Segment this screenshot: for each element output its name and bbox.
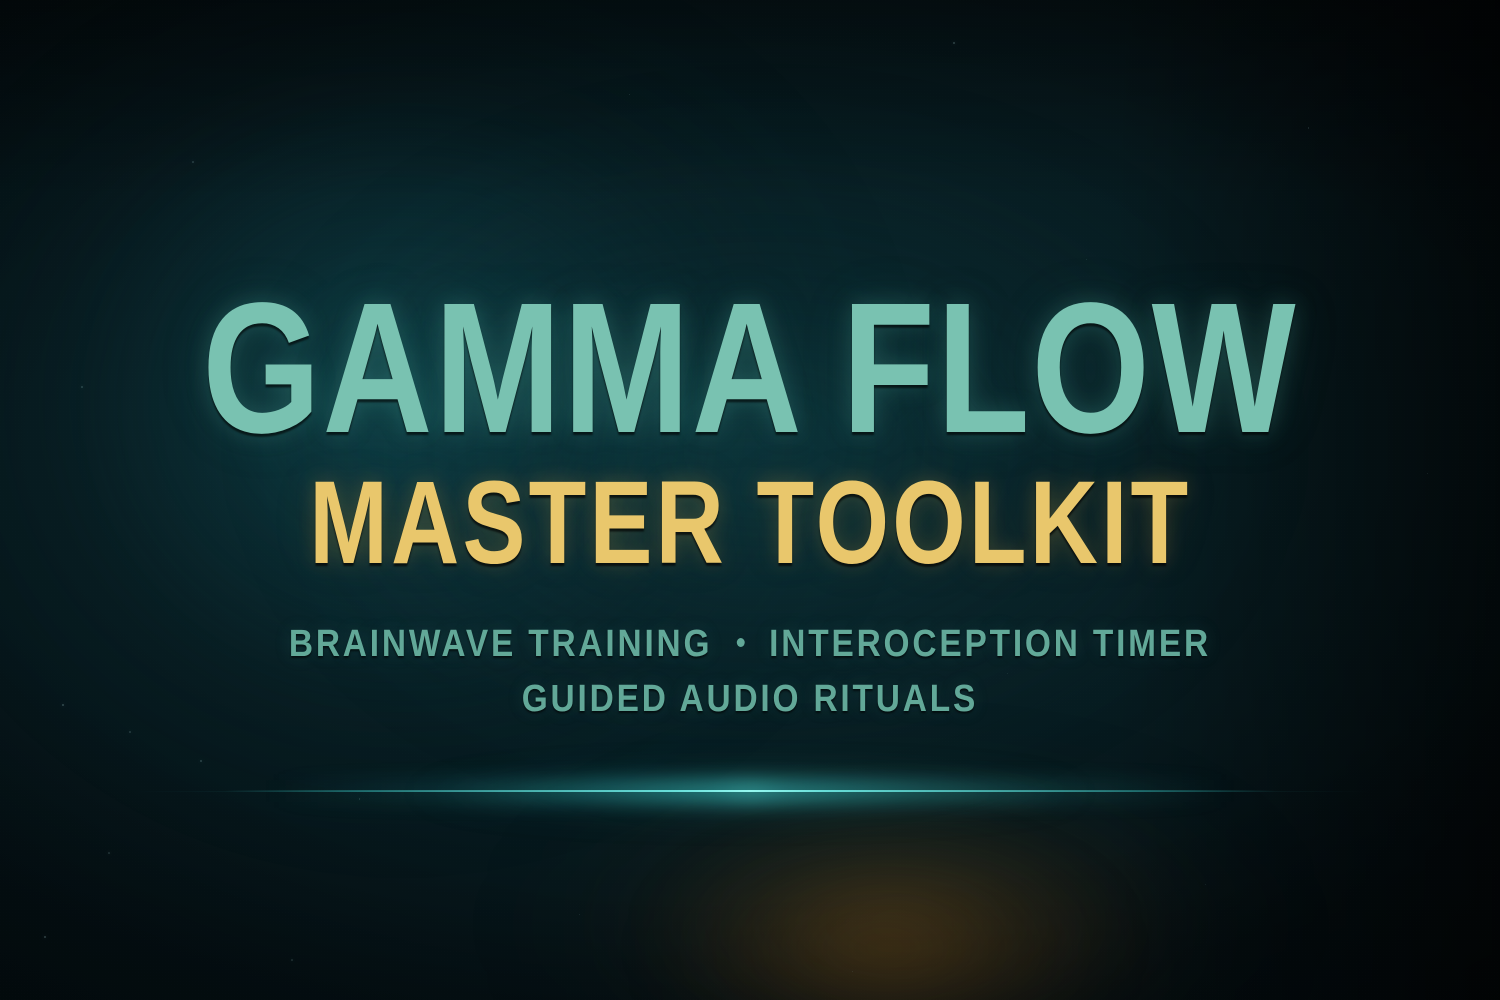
divider-core-line bbox=[225, 790, 1275, 792]
glow-divider bbox=[0, 776, 1500, 836]
tagline-separator-dot bbox=[725, 619, 758, 673]
tagline-block: BRAINWAVE TRAINING INTEROCEPTION TIMER G… bbox=[289, 618, 1211, 727]
tagline-line-1: BRAINWAVE TRAINING INTEROCEPTION TIMER bbox=[289, 618, 1211, 673]
tagline-guided-audio-rituals: GUIDED AUDIO RITUALS bbox=[289, 673, 1211, 727]
page-subtitle: MASTER TOOLKIT bbox=[309, 475, 1191, 572]
poster-canvas: GAMMA FLOW MASTER TOOLKIT BRAINWAVE TRAI… bbox=[0, 0, 1500, 1000]
tagline-brainwave-training: BRAINWAVE TRAINING bbox=[289, 623, 712, 665]
poster-content: GAMMA FLOW MASTER TOOLKIT BRAINWAVE TRAI… bbox=[0, 0, 1500, 1000]
tagline-interoception-timer: INTEROCEPTION TIMER bbox=[769, 623, 1211, 665]
page-title: GAMMA FLOW bbox=[202, 296, 1297, 441]
